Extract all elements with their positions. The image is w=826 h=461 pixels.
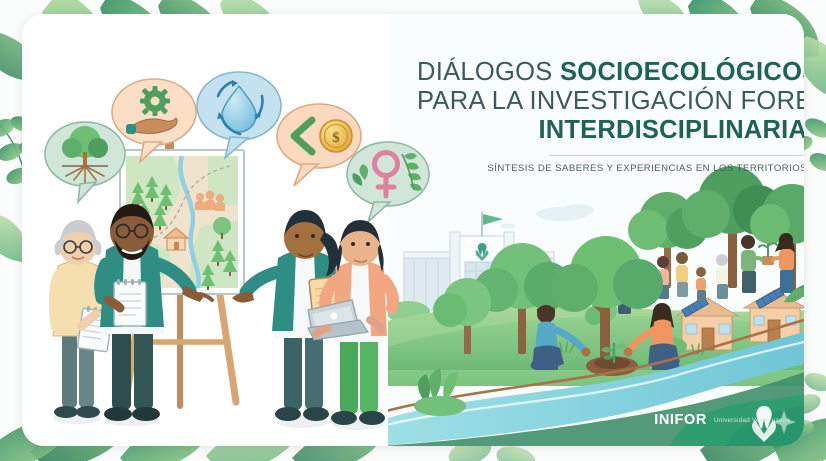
inifor-wordmark: INIFOR: [654, 412, 707, 428]
title-divider: [549, 155, 804, 156]
title-block: DIÁLOGOS SOCIOECOLÓGICOS PARA LA INVESTI…: [417, 58, 804, 174]
inifor-uv-lockup: INIFOR Universidad Veracruzana: [654, 412, 790, 428]
poster-canvas: $: [0, 0, 826, 461]
title-line-3: INTERDISCIPLINARIA: [417, 116, 804, 145]
title-line-2: PARA LA INVESTIGACIÓN FORESTAL: [417, 87, 804, 116]
scene-mesa-de-dialogo: $: [22, 14, 429, 446]
uv-wordmark: Universidad Veracruzana: [714, 417, 790, 424]
poster-card: $: [22, 14, 804, 446]
title-line-1: DIÁLOGOS SOCIOECOLÓGICOS: [417, 58, 804, 87]
title-bold: SOCIOECOLÓGICOS: [560, 58, 804, 86]
subtitle: SÍNTESIS DE SABERES Y EXPERIENCIAS EN LO…: [417, 163, 804, 174]
uv-lockup: Universidad Veracruzana: [714, 417, 790, 424]
title-plain: DIÁLOGOS: [417, 58, 560, 86]
svg-text:$: $: [332, 130, 340, 146]
